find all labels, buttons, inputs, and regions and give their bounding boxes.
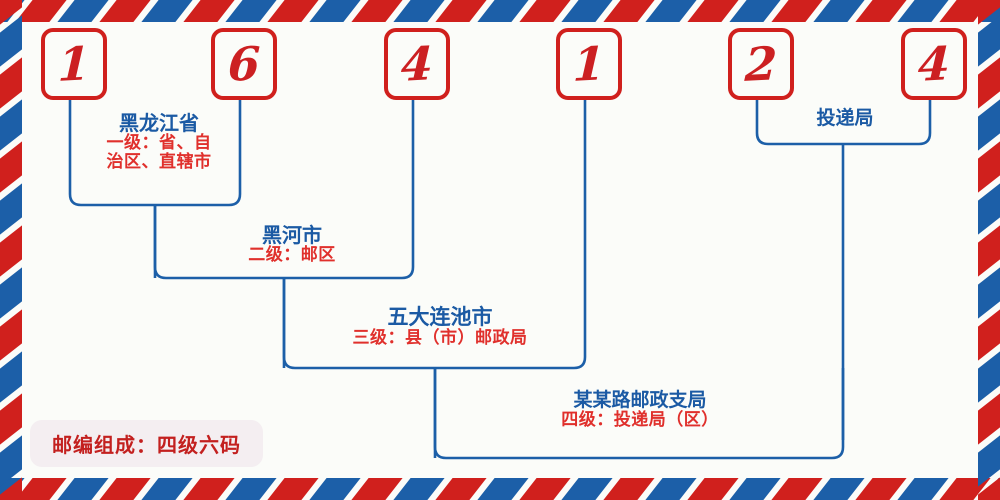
label-desc-level-3: 三级：县（市）邮政局 [300,329,580,348]
label-desc-level-4: 四级：投递局（区） [520,411,760,430]
postcode-digit-box-1[interactable]: 1 [41,28,107,100]
label-name-delivery-office: 投递局 [760,108,930,129]
label-group-level-2: 黑河市 二级：邮区 [188,224,396,265]
postcode-digit-box-4[interactable]: 1 [556,28,622,100]
postcode-digit-box-6[interactable]: 4 [901,28,967,100]
envelope-canvas: 1 6 4 1 2 4 投递局 黑龙江省 一级：省、自 治区、直辖市 黑河市 二… [0,0,1000,500]
airmail-border-left [0,0,22,500]
label-desc-level-1-line-2: 治区、直辖市 [68,153,250,172]
airmail-border-top [0,0,1000,22]
postcode-digit-box-5[interactable]: 2 [728,28,794,100]
postcode-digit-1: 1 [57,40,91,88]
postcode-digit-box-2[interactable]: 6 [211,28,277,100]
postcode-digit-box-3[interactable]: 4 [384,28,450,100]
label-group-level-1: 黑龙江省 一级：省、自 治区、直辖市 [68,112,250,172]
label-group-level-3: 五大连池市 三级：县（市）邮政局 [300,305,580,348]
label-group-delivery-office: 投递局 [760,108,930,129]
airmail-border-right [978,0,1000,500]
label-name-level-2: 黑河市 [188,224,396,246]
label-group-level-4: 某某路邮政支局 四级：投递局（区） [520,390,760,430]
label-name-level-1: 黑龙江省 [68,112,250,134]
postcode-digit-2: 6 [227,40,261,88]
caption-chip: 邮编组成：四级六码 [30,420,263,467]
postcode-digit-5: 2 [744,40,778,88]
postcode-digit-6: 4 [917,40,951,88]
label-desc-level-2: 二级：邮区 [188,246,396,265]
caption-text: 邮编组成：四级六码 [52,433,241,457]
label-desc-level-1-line-1: 一级：省、自 [68,134,250,153]
label-name-level-4: 某某路邮政支局 [520,390,760,411]
airmail-border-bottom [0,478,1000,500]
label-name-level-3: 五大连池市 [300,305,580,329]
postcode-digit-3: 4 [400,40,434,88]
postcode-digit-4: 1 [572,40,606,88]
